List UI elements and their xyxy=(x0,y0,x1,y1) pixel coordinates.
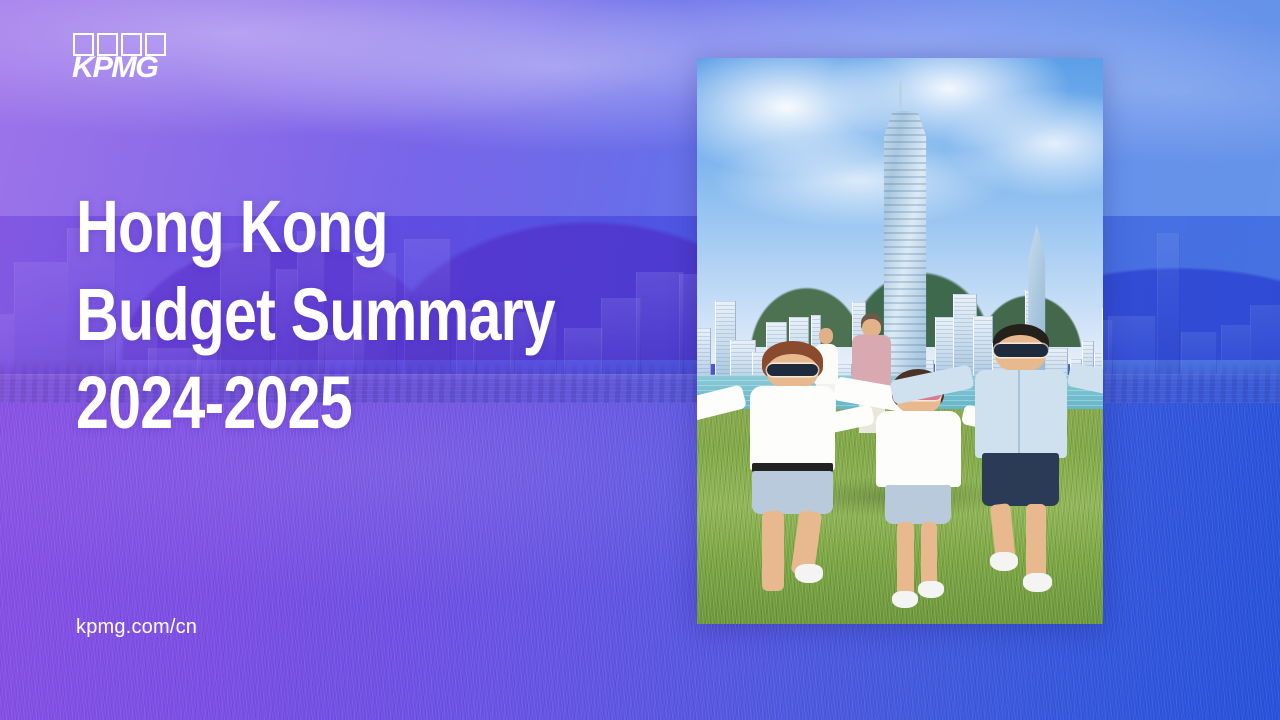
photo-ifc-mast xyxy=(899,81,902,109)
title-slide: KPMG Hong Kong Budget Summary 2024-2025 … xyxy=(0,0,1280,720)
page-title-line-2: Budget Summary xyxy=(76,271,555,359)
hero-photo xyxy=(697,58,1103,624)
kpmg-logo-wordmark: KPMG xyxy=(72,53,157,83)
photo-person-mother xyxy=(729,341,855,607)
page-title-line-3: 2024-2025 xyxy=(76,359,555,447)
photo-person-father xyxy=(957,324,1085,592)
website-url[interactable]: kpmg.com/cn xyxy=(76,616,197,639)
page-title-line-1: Hong Kong xyxy=(76,183,555,271)
kpmg-logo[interactable]: KPMG xyxy=(72,33,168,83)
page-title: Hong Kong Budget Summary 2024-2025 xyxy=(76,183,555,447)
